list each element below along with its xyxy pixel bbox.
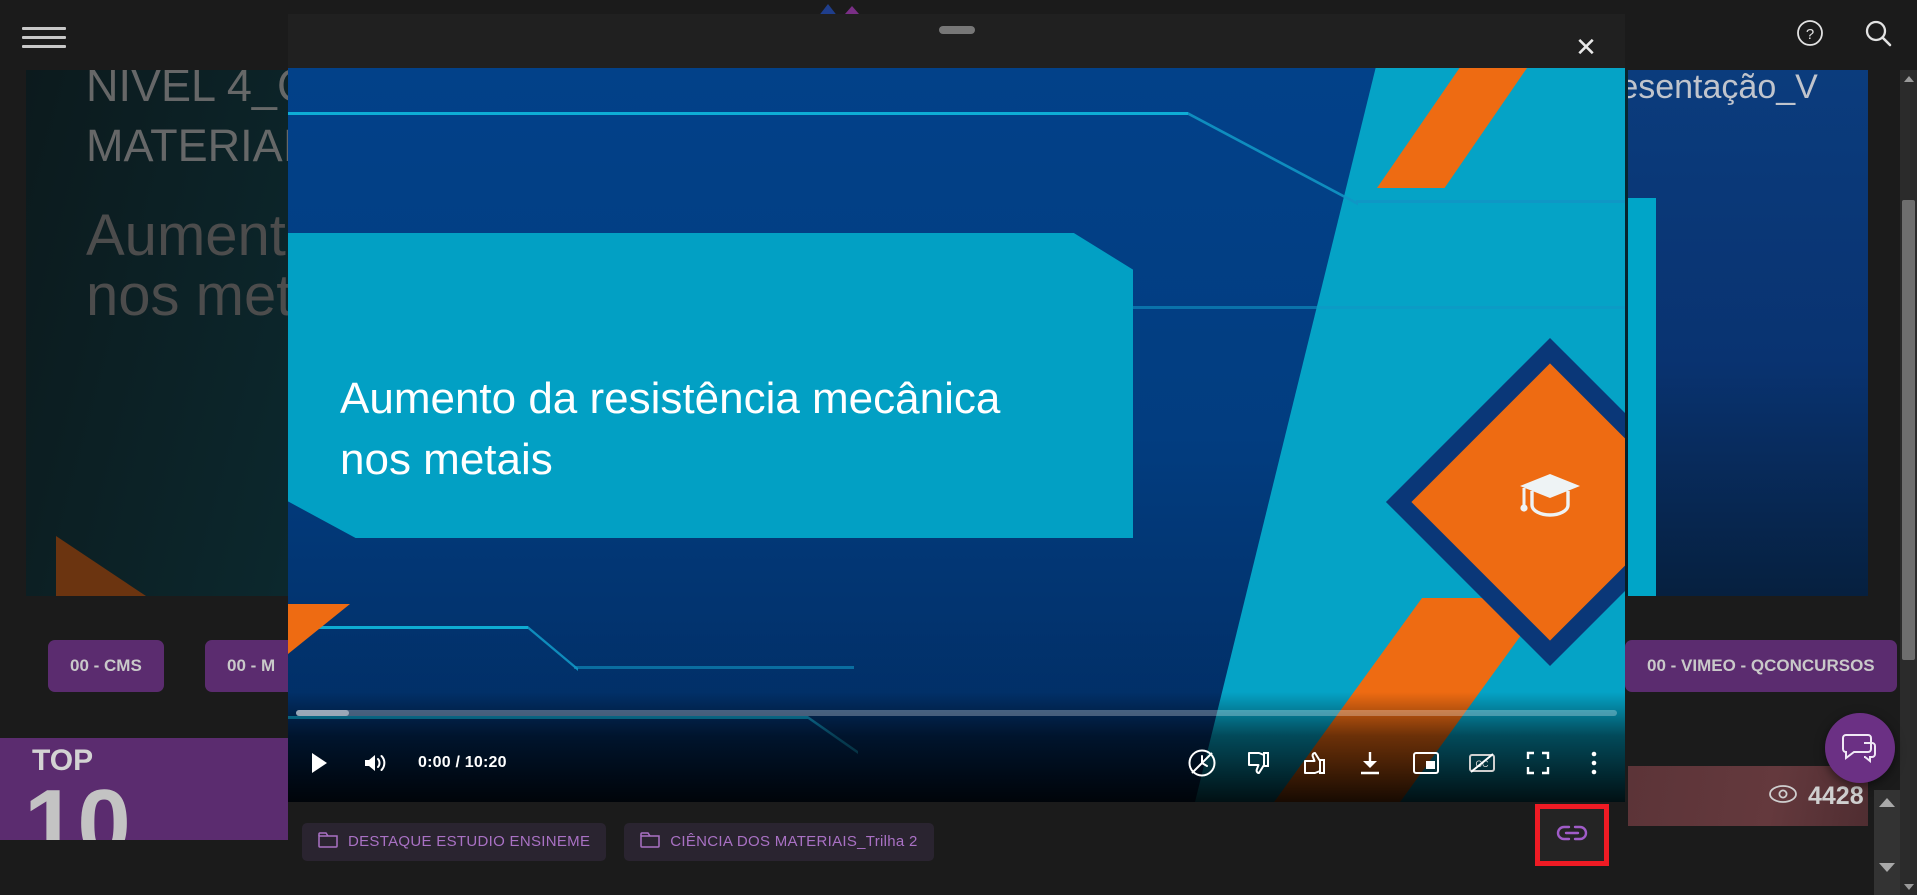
- chat-bubble-icon[interactable]: [1825, 713, 1895, 783]
- slide-line-3-end: [574, 666, 854, 669]
- player-control-bar: 0:00 / 10:20: [288, 692, 1625, 802]
- link-chain-icon: [1555, 822, 1589, 849]
- pill-m[interactable]: 00 - M: [205, 640, 297, 692]
- pill-vimeo-qconcursos[interactable]: 00 - VIMEO - QCONCURSOS: [1625, 640, 1897, 692]
- right-slide-card[interactable]: resentação_V: [1628, 68, 1868, 596]
- video-modal[interactable]: ✕: [288, 14, 1625, 881]
- modal-header: ✕: [288, 14, 1625, 68]
- page-scrollbar-thumb[interactable]: [1902, 200, 1915, 660]
- closed-captions-off-icon[interactable]: CC: [1465, 746, 1499, 780]
- views-bar: 4428: [1628, 766, 1868, 826]
- top-banner-number: 10: [24, 776, 131, 840]
- slide-line-3: [288, 626, 528, 629]
- progress-bar[interactable]: [296, 710, 1617, 716]
- volume-on-icon[interactable]: [358, 746, 392, 780]
- right-slide-cyan-bar: [1628, 198, 1656, 596]
- play-icon[interactable]: [302, 746, 336, 780]
- scroll-up-arrow-icon[interactable]: [1900, 70, 1917, 87]
- top-bar-actions: ?: [1791, 14, 1897, 52]
- chip-ciencia-dos-materiais-trilha-2[interactable]: CIÊNCIA DOS MATERIAIS_Trilha 2: [624, 823, 933, 861]
- copy-link-button[interactable]: [1535, 804, 1609, 866]
- slide-title: Aumento da resistência mecânica nos meta…: [340, 368, 1140, 490]
- chip-destaque-estudio-ensineme[interactable]: DESTAQUE ESTUDIO ENSINEME: [302, 823, 606, 861]
- slide-orange-bottomleft: [288, 604, 350, 654]
- folder-icon: [318, 832, 338, 852]
- slide-line-3-diag: [528, 626, 578, 671]
- scroll-down-arrow-icon[interactable]: [1900, 878, 1917, 895]
- chip-label: CIÊNCIA DOS MATERIAIS_Trilha 2: [670, 833, 917, 850]
- time-display: 0:00 / 10:20: [418, 754, 507, 772]
- search-icon[interactable]: [1859, 14, 1897, 52]
- modal-footer: DESTAQUE ESTUDIO ENSINEME CIÊNCIA DOS MA…: [288, 802, 1625, 881]
- download-icon[interactable]: [1353, 746, 1387, 780]
- svg-text:?: ?: [1806, 26, 1814, 43]
- more-options-icon[interactable]: [1577, 746, 1611, 780]
- hamburger-menu-icon[interactable]: [22, 22, 66, 52]
- video-player[interactable]: Aumento da resistência mecânica nos meta…: [288, 68, 1625, 802]
- player-right-controls: CC: [1185, 746, 1611, 780]
- hero-orange-corner: [56, 536, 146, 596]
- pill-cms[interactable]: 00 - CMS: [48, 640, 164, 692]
- panel-scroll-up-arrow-icon[interactable]: [1874, 794, 1900, 810]
- help-circle-icon[interactable]: ?: [1791, 14, 1829, 52]
- watch-later-disabled-icon[interactable]: [1185, 746, 1219, 780]
- views-count: 4428: [1808, 782, 1864, 811]
- modal-drag-handle[interactable]: [939, 26, 975, 34]
- thumbs-down-icon[interactable]: [1241, 746, 1275, 780]
- fullscreen-icon[interactable]: [1521, 746, 1555, 780]
- page-root: NÍVEL 4_CIÊ MATERIAIS_ Aumento nos meta …: [0, 0, 1917, 895]
- right-slide-title: resentação_V: [1628, 68, 1818, 107]
- panel-scroll-down-arrow-icon[interactable]: [1874, 859, 1900, 875]
- slide-line-1-diag: [1188, 112, 1358, 205]
- eye-icon: [1768, 784, 1798, 809]
- slide-line-1-end: [1356, 200, 1625, 203]
- picture-in-picture-icon[interactable]: [1409, 746, 1443, 780]
- panel-scrollbar[interactable]: [1874, 790, 1900, 895]
- chip-label: DESTAQUE ESTUDIO ENSINEME: [348, 833, 590, 850]
- thumbs-up-icon[interactable]: [1297, 746, 1331, 780]
- player-left-controls: 0:00 / 10:20: [302, 746, 507, 780]
- close-icon[interactable]: ✕: [1569, 30, 1603, 64]
- graduation-cap-icon: [1516, 468, 1584, 520]
- progress-buffered: [296, 710, 349, 716]
- folder-icon: [640, 832, 660, 852]
- page-scrollbar[interactable]: [1900, 70, 1917, 895]
